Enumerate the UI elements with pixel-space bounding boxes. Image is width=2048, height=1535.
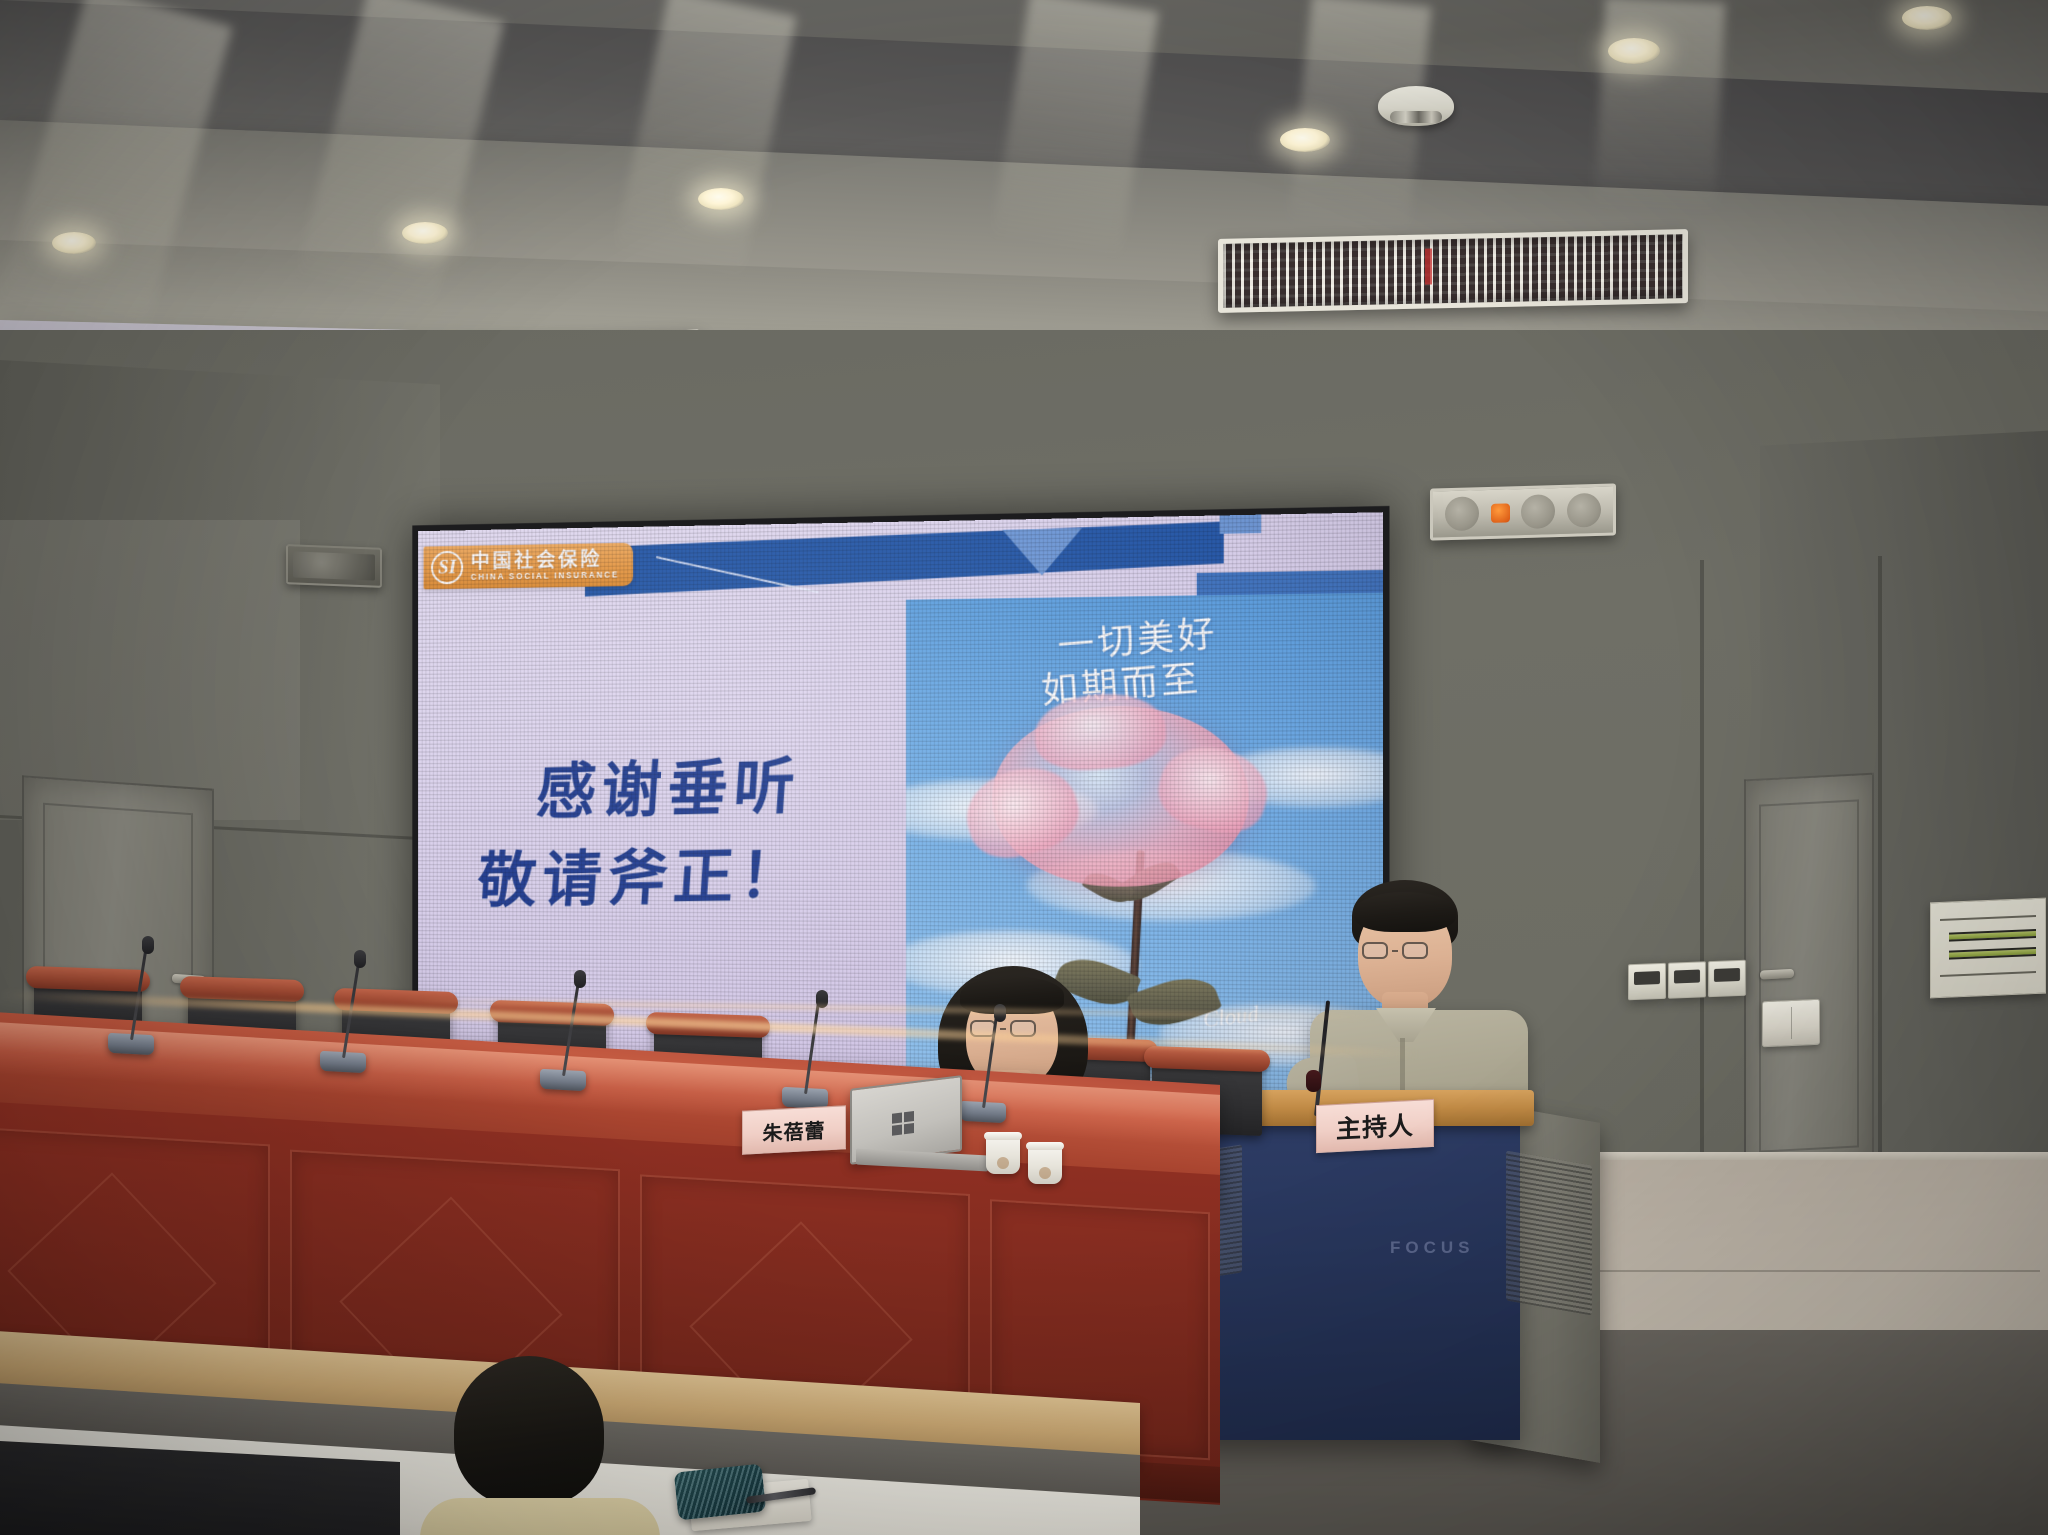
- attendee-hair: [454, 1356, 604, 1506]
- presenter-glasses: [970, 1020, 1036, 1037]
- table-microphone-head: [354, 950, 366, 968]
- table-microphone-head: [142, 936, 154, 954]
- paper-cup-lid: [984, 1132, 1022, 1140]
- csi-mark-icon: SI: [431, 551, 463, 585]
- speaker-cone-icon: [1445, 496, 1479, 531]
- chair-top-rail: [26, 966, 150, 992]
- slide-ribbon-block: [1220, 515, 1262, 534]
- host-hair-top: [1354, 892, 1456, 932]
- chair-top-rail: [646, 1012, 770, 1038]
- wall-speaker-right: [1430, 483, 1616, 540]
- podium-speaker-grill: [1506, 1150, 1592, 1315]
- speaker-cone-icon: [1521, 494, 1555, 529]
- ceiling-downlight: [1280, 128, 1330, 152]
- ceiling-downlight: [1608, 38, 1660, 64]
- hvac-vent: [1218, 229, 1688, 313]
- chair-top-rail: [1144, 1046, 1270, 1072]
- paper-cup[interactable]: [986, 1136, 1020, 1174]
- glasses-lens: [1010, 1020, 1036, 1037]
- ceiling-downlight: [1902, 6, 1952, 30]
- chair-top-rail: [180, 976, 304, 1002]
- host-placket: [1400, 1038, 1405, 1096]
- wall-outlet-group[interactable]: [1628, 960, 1746, 1001]
- glasses-lens: [1362, 942, 1388, 959]
- phone-with-case[interactable]: [674, 1464, 767, 1521]
- door-right[interactable]: [1744, 773, 1874, 1180]
- china-social-insurance-logo: SI 中国社会保险 CHINA SOCIAL INSURANCE: [424, 543, 633, 590]
- logo-english-text: CHINA SOCIAL INSURANCE: [471, 570, 619, 581]
- ceiling-downlight: [402, 222, 448, 244]
- wall-speaker-left: [286, 544, 382, 588]
- wall-trim-line: [1878, 556, 1882, 1166]
- glasses-bridge: [1000, 1028, 1006, 1030]
- windows-logo-icon: [892, 1111, 914, 1136]
- glasses-bridge: [1392, 950, 1398, 952]
- wall-outlet[interactable]: [1708, 960, 1746, 997]
- wall-notice-sign: [1930, 898, 2046, 999]
- speaker-logo-icon: [1491, 503, 1510, 523]
- slide-headline-line2: 敬请斧正！: [475, 825, 810, 920]
- wall-trim-line: [1700, 560, 1704, 1160]
- light-switch[interactable]: [1762, 999, 1820, 1048]
- conference-room-photo: SI 中国社会保险 CHINA SOCIAL INSURANCE 一切美好 如期…: [0, 0, 2048, 1535]
- chair-top-rail: [490, 1000, 614, 1026]
- ceiling-downlight: [52, 232, 96, 254]
- wall-outlet[interactable]: [1668, 961, 1706, 998]
- door-handle[interactable]: [1760, 969, 1794, 980]
- table-microphone-head: [574, 970, 586, 988]
- nameplate-podium: 主持人: [1316, 1099, 1434, 1153]
- smoke-detector-icon: [1378, 86, 1454, 126]
- nameplate-podium-text: 主持人: [1336, 1106, 1414, 1146]
- wall-panel: [0, 520, 300, 820]
- table-microphone-head: [816, 990, 828, 1008]
- nameplate-seated: 朱蓓蕾: [742, 1105, 846, 1154]
- attendee-shoulders: [420, 1498, 660, 1535]
- wall-outlet[interactable]: [1628, 963, 1666, 1000]
- speaker-cone-icon: [1567, 493, 1601, 528]
- paper-cup[interactable]: [1028, 1146, 1062, 1184]
- person-foreground-attendee: [426, 1356, 646, 1535]
- ceiling-downlight: [698, 188, 744, 210]
- podium-microphone-head: [1306, 1070, 1321, 1092]
- slide-headline-line1: 感谢垂听: [534, 736, 804, 831]
- table-microphone-head: [994, 1004, 1006, 1022]
- podium-brand-text: FOCUS: [1390, 1238, 1475, 1258]
- paper-cup-lid: [1026, 1142, 1064, 1150]
- glasses-lens: [1402, 942, 1428, 959]
- host-glasses: [1362, 942, 1428, 959]
- presenter-fringe: [960, 976, 1064, 1014]
- nameplate-seated-text: 朱蓓蕾: [763, 1114, 826, 1146]
